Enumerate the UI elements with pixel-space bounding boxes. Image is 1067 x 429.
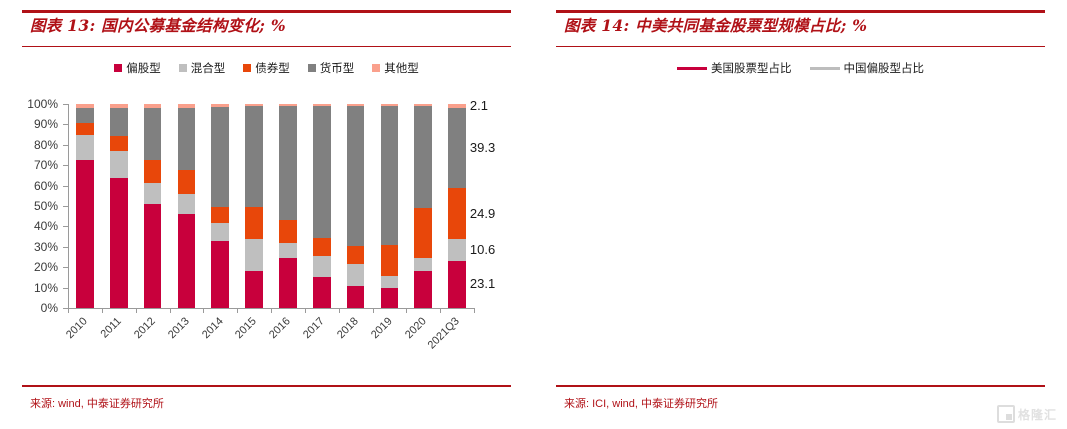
bar-segment[interactable] <box>347 104 365 106</box>
legend-swatch-icon <box>243 64 251 72</box>
bar-data-label: 2.1 <box>470 99 488 112</box>
legend-item-3[interactable]: 债券型 <box>243 60 290 76</box>
bar-segment[interactable] <box>110 136 128 151</box>
bar-segment[interactable] <box>76 135 94 160</box>
title-rule-bottom <box>22 46 511 47</box>
bar-column[interactable] <box>76 104 94 308</box>
source-note-left: 来源: wind, 中泰证券研究所 <box>30 395 164 411</box>
bar-segment[interactable] <box>144 104 162 108</box>
bar-segment[interactable] <box>211 207 229 223</box>
legend-item-2[interactable]: 中国偏股型占比 <box>810 60 925 76</box>
legend-item-2[interactable]: 混合型 <box>179 60 226 76</box>
bar-segment[interactable] <box>414 258 432 272</box>
y-axis-tick-label: 10% <box>24 282 58 294</box>
bar-segment[interactable] <box>144 183 162 203</box>
bar-segment[interactable] <box>381 106 399 245</box>
x-axis-tick-label: 2020 <box>403 316 428 341</box>
x-axis-tick <box>373 308 374 313</box>
bar-segment[interactable] <box>313 256 331 277</box>
legend-swatch-icon <box>810 67 840 70</box>
bar-column[interactable] <box>144 104 162 308</box>
bar-segment[interactable] <box>448 188 466 239</box>
y-axis-tick-label: 80% <box>24 139 58 151</box>
bar-column[interactable] <box>178 104 196 308</box>
legend-swatch-icon <box>677 67 707 70</box>
x-axis-tick <box>339 308 340 313</box>
bar-segment[interactable] <box>414 208 432 257</box>
bar-column[interactable] <box>414 104 432 308</box>
legend-left: 偏股型混合型债券型货币型其他型 <box>0 60 533 76</box>
bar-segment[interactable] <box>347 286 365 308</box>
bar-data-label: 39.3 <box>470 141 495 154</box>
page-title-right: 图表 14: 中美共同基金股票型规模占比; % <box>564 14 867 36</box>
y-axis-tick-label: 0% <box>24 302 58 314</box>
legend-swatch-icon <box>114 64 122 72</box>
x-axis-tick-label: 2018 <box>336 316 361 341</box>
bar-segment[interactable] <box>211 223 229 241</box>
bar-segment[interactable] <box>245 207 263 240</box>
bar-segment[interactable] <box>313 106 331 238</box>
bar-column[interactable] <box>279 104 297 308</box>
bar-segment[interactable] <box>448 239 466 261</box>
bar-column[interactable] <box>313 104 331 308</box>
bar-column[interactable] <box>381 104 399 308</box>
legend-swatch-icon <box>308 64 316 72</box>
bar-segment[interactable] <box>279 258 297 308</box>
bar-segment[interactable] <box>178 170 196 194</box>
legend-item-1[interactable]: 偏股型 <box>114 60 161 76</box>
bar-column[interactable] <box>245 104 263 308</box>
y-axis-tick-label: 60% <box>24 180 58 192</box>
x-axis-tick-label: 2011 <box>99 316 124 341</box>
bar-segment[interactable] <box>110 108 128 136</box>
bar-column[interactable] <box>347 104 365 308</box>
y-axis-tick-label: 20% <box>24 261 58 273</box>
watermark-text: 格隆汇 <box>1018 406 1057 423</box>
bar-segment[interactable] <box>381 245 399 276</box>
legend-item-1[interactable]: 美国股票型占比 <box>677 60 792 76</box>
bar-segment[interactable] <box>76 160 94 308</box>
figure-page: 图表 13: 国内公募基金结构变化; % 偏股型混合型债券型货币型其他型 0%1… <box>0 0 1067 429</box>
bar-segment[interactable] <box>178 194 196 214</box>
bar-segment[interactable] <box>76 108 94 123</box>
bar-segment[interactable] <box>414 104 432 106</box>
bar-data-label: 24.9 <box>470 207 495 220</box>
bar-segment[interactable] <box>211 107 229 207</box>
bar-segment[interactable] <box>144 160 162 183</box>
y-axis-tick-label: 50% <box>24 200 58 212</box>
watermark: 格隆汇 <box>997 405 1057 423</box>
y-axis-line <box>68 104 69 308</box>
footer-rule-right <box>556 385 1045 387</box>
legend-label: 其他型 <box>384 60 419 76</box>
stacked-bar-chart: 0%10%20%30%40%50%60%70%80%90%100%2010201… <box>24 96 514 386</box>
bar-segment[interactable] <box>414 106 432 208</box>
bar-column[interactable] <box>110 104 128 308</box>
bar-segment[interactable] <box>110 151 128 179</box>
bar-segment[interactable] <box>448 104 466 108</box>
x-axis-tick <box>474 308 475 313</box>
x-axis-tick <box>305 308 306 313</box>
bar-segment[interactable] <box>178 108 196 170</box>
x-axis-tick-label: 2012 <box>133 316 158 341</box>
bar-segment[interactable] <box>178 214 196 308</box>
bar-segment[interactable] <box>448 261 466 308</box>
bar-segment[interactable] <box>245 104 263 106</box>
legend-label: 中国偏股型占比 <box>844 60 925 76</box>
bar-segment[interactable] <box>313 104 331 106</box>
x-axis-tick <box>102 308 103 313</box>
bar-segment[interactable] <box>381 276 399 288</box>
title-rule-top <box>22 10 511 13</box>
bar-segment[interactable] <box>381 104 399 106</box>
x-axis-tick-label: 2013 <box>166 316 191 341</box>
legend-item-5[interactable]: 其他型 <box>372 60 419 76</box>
bar-segment[interactable] <box>279 104 297 106</box>
legend-item-4[interactable]: 货币型 <box>308 60 355 76</box>
bar-segment[interactable] <box>110 178 128 308</box>
bar-segment[interactable] <box>448 108 466 188</box>
bar-segment[interactable] <box>279 106 297 220</box>
bar-segment[interactable] <box>347 246 365 265</box>
bar-segment[interactable] <box>414 271 432 308</box>
bar-segment[interactable] <box>144 204 162 308</box>
x-axis-tick-label: 2015 <box>234 316 259 341</box>
x-axis-tick-label: 2017 <box>302 316 327 341</box>
x-axis-tick <box>136 308 137 313</box>
legend-label: 债券型 <box>255 60 290 76</box>
y-axis-tick-label: 30% <box>24 241 58 253</box>
bar-segment[interactable] <box>178 104 196 108</box>
legend-label: 货币型 <box>320 60 355 76</box>
x-axis-tick <box>406 308 407 313</box>
bar-segment[interactable] <box>144 108 162 160</box>
y-axis-tick-label: 90% <box>24 118 58 130</box>
x-axis-tick <box>237 308 238 313</box>
x-axis-tick <box>271 308 272 313</box>
y-axis-tick-label: 100% <box>24 98 58 110</box>
bar-data-label: 23.1 <box>470 277 495 290</box>
legend-swatch-icon <box>179 64 187 72</box>
bar-segment[interactable] <box>211 241 229 308</box>
bar-segment[interactable] <box>110 104 128 108</box>
bar-segment[interactable] <box>245 239 263 270</box>
x-axis-tick-label: 2014 <box>200 316 225 341</box>
x-axis-tick-label: 2016 <box>268 316 293 341</box>
bar-segment[interactable] <box>279 220 297 243</box>
title-rule-top <box>556 10 1045 13</box>
source-note-right: 来源: ICI, wind, 中泰证券研究所 <box>564 395 718 411</box>
x-axis-tick <box>203 308 204 313</box>
watermark-logo-icon <box>997 405 1015 423</box>
bar-segment[interactable] <box>211 104 229 107</box>
legend-swatch-icon <box>372 64 380 72</box>
x-axis-tick <box>170 308 171 313</box>
bar-segment[interactable] <box>245 271 263 308</box>
bar-segment[interactable] <box>347 264 365 285</box>
bar-column[interactable] <box>211 104 229 308</box>
x-axis-tick <box>440 308 441 313</box>
bar-segment[interactable] <box>313 238 331 256</box>
bar-segment[interactable] <box>279 243 297 258</box>
chart-panel-left: 图表 13: 国内公募基金结构变化; % 偏股型混合型债券型货币型其他型 0%1… <box>0 0 533 429</box>
title-rule-bottom <box>556 46 1045 47</box>
y-axis-tick-label: 40% <box>24 220 58 232</box>
x-axis-tick-label: 2019 <box>369 316 394 341</box>
x-axis-tick-label: 2021Q3 <box>427 316 462 351</box>
bar-segment[interactable] <box>245 106 263 207</box>
legend-label: 美国股票型占比 <box>711 60 792 76</box>
bar-segment[interactable] <box>313 277 331 308</box>
legend-right: 美国股票型占比中国偏股型占比 <box>534 60 1067 76</box>
bar-segment[interactable] <box>347 106 365 246</box>
legend-label: 偏股型 <box>126 60 161 76</box>
bar-segment[interactable] <box>381 288 399 308</box>
chart-panel-right: 图表 14: 中美共同基金股票型规模占比; % 美国股票型占比中国偏股型占比 0… <box>534 0 1067 429</box>
footer-rule-left <box>22 385 511 387</box>
x-axis-tick <box>68 308 69 313</box>
legend-label: 混合型 <box>191 60 226 76</box>
bar-segment[interactable] <box>76 123 94 135</box>
x-axis-tick-label: 2010 <box>65 316 90 341</box>
page-title-left: 图表 13: 国内公募基金结构变化; % <box>30 14 286 36</box>
bar-data-label: 10.6 <box>470 243 495 256</box>
bar-segment[interactable] <box>76 104 94 108</box>
bar-column[interactable] <box>448 104 466 308</box>
y-axis-tick-label: 70% <box>24 159 58 171</box>
